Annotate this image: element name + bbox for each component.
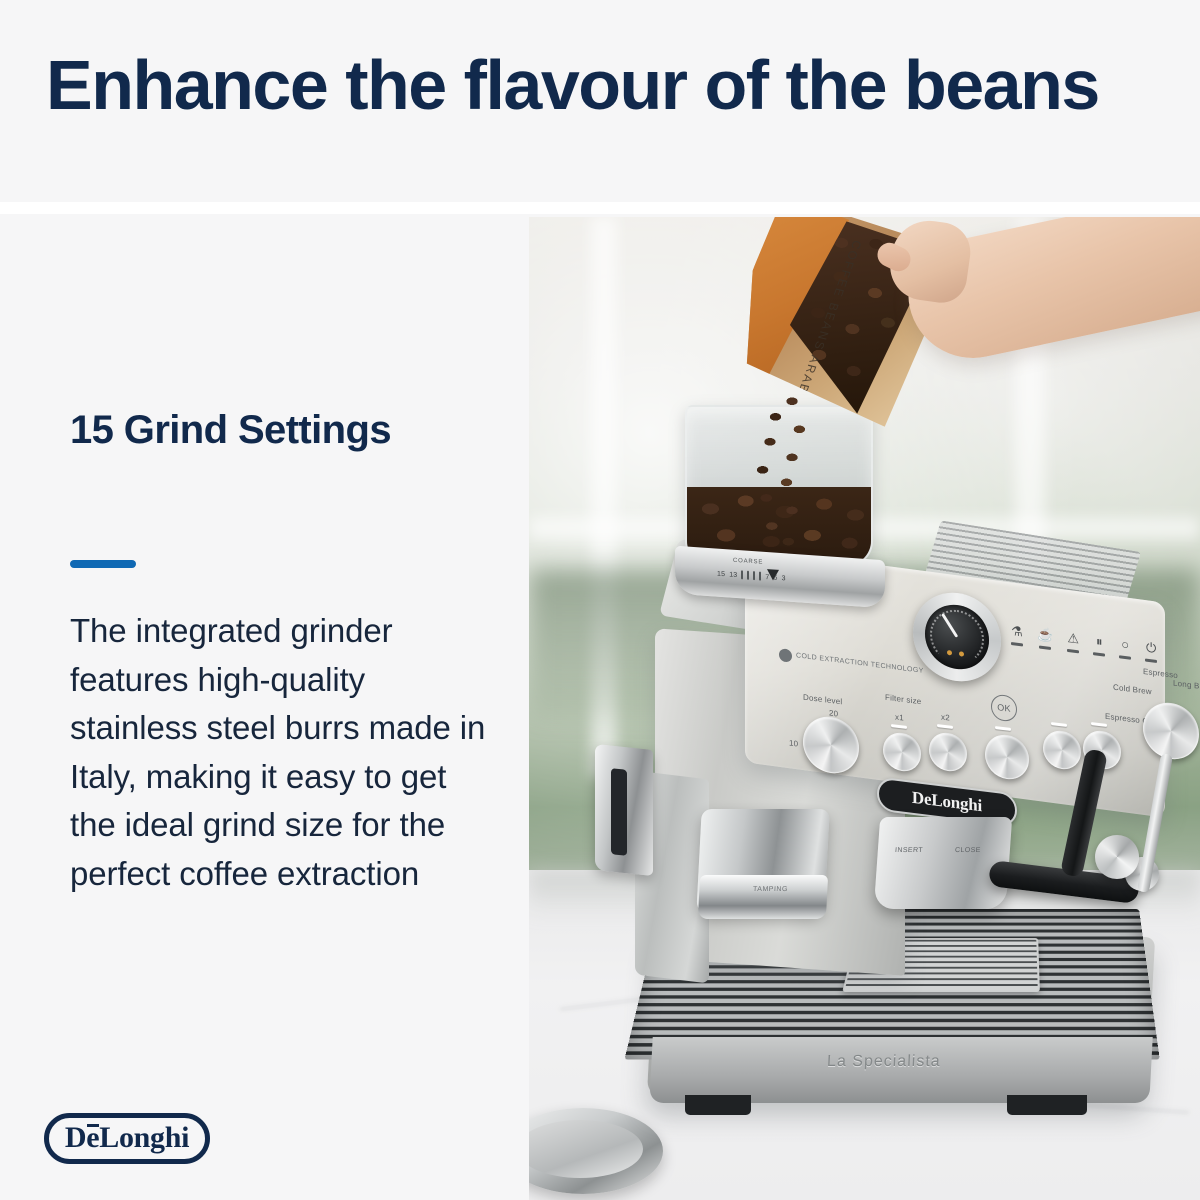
grind-coarse-label: COARSE (733, 558, 763, 566)
left-content-column: 15 Grind Settings The integrated grinder… (0, 214, 508, 1200)
header-band: Enhance the flavour of the beans (0, 0, 1200, 202)
grind-tick (759, 572, 761, 581)
espresso-machine: La Specialista (577, 517, 1177, 1177)
power-glyph: ⏻ (1146, 641, 1156, 655)
tamping-station-ring (698, 875, 828, 919)
grind-number: 3 (782, 575, 786, 582)
cup-glyph: ☕ (1037, 627, 1053, 642)
water-drop-icon: ○ (1119, 637, 1131, 659)
grind-tick (741, 570, 743, 579)
grind-number: 15 (717, 571, 725, 579)
product-photo: La Specialista (529, 217, 1200, 1200)
cold-extraction-icon (779, 648, 792, 663)
pouring-bean-stream (735, 395, 827, 551)
machine-foot-left (685, 1095, 751, 1115)
feature-body-text: The integrated grinder features high-qua… (70, 607, 490, 898)
logo-letters-longhi: Longhi (99, 1121, 189, 1154)
grind-setting-marker (767, 569, 779, 581)
grind-tick (747, 571, 749, 580)
water-drop-glyph: ○ (1121, 638, 1129, 652)
machine-engraving: La Specialista (827, 1053, 942, 1071)
gauge-indicator-light (947, 650, 952, 656)
header-divider (0, 202, 1200, 214)
pressure-gauge-face (925, 602, 989, 673)
descale-glyph: ⚗ (1011, 624, 1023, 638)
group-head (874, 817, 1012, 909)
pressure-gauge-scale (930, 607, 984, 667)
logo-letter-d: D (65, 1121, 86, 1154)
dose-min-label: 10 (789, 738, 798, 749)
power-icon: ⏻ (1145, 641, 1157, 663)
promo-page: Enhance the flavour of the beans 15 Grin… (0, 0, 1200, 1200)
machine-brand-badge-text: DeLonghi (912, 788, 982, 817)
group-head-insert-label: INSERT (895, 847, 923, 854)
logo-letter-e-macron: e (86, 1123, 99, 1153)
feature-heading: 15 Grind Settings (70, 406, 410, 455)
pause-icon: ⏸ (1093, 634, 1105, 656)
delonghi-logo: DeLonghi (44, 1113, 210, 1164)
warning-glyph: ⚠ (1067, 631, 1079, 645)
warning-icon: ⚠ (1067, 631, 1079, 653)
pause-glyph: ⏸ (1096, 634, 1103, 648)
delonghi-logo-text: DeLonghi (65, 1123, 189, 1153)
gauge-indicator-light (959, 651, 964, 657)
accent-rule (70, 560, 136, 568)
steam-wand-knob[interactable] (1095, 835, 1139, 879)
tamping-label: TAMPING (753, 885, 788, 894)
cup-icon: ☕ (1037, 627, 1053, 649)
group-head-close-label: CLOSE (955, 847, 981, 854)
grind-number: 13 (729, 571, 737, 579)
shot-single-label: x1 (895, 712, 904, 723)
shot-double-label: x2 (941, 712, 950, 723)
page-title: Enhance the flavour of the beans (46, 48, 1099, 124)
grinder-lever-slot (611, 768, 627, 856)
grind-tick (753, 571, 755, 580)
machine-foot-right (1007, 1095, 1087, 1115)
descale-icon: ⚗ (1011, 624, 1023, 646)
